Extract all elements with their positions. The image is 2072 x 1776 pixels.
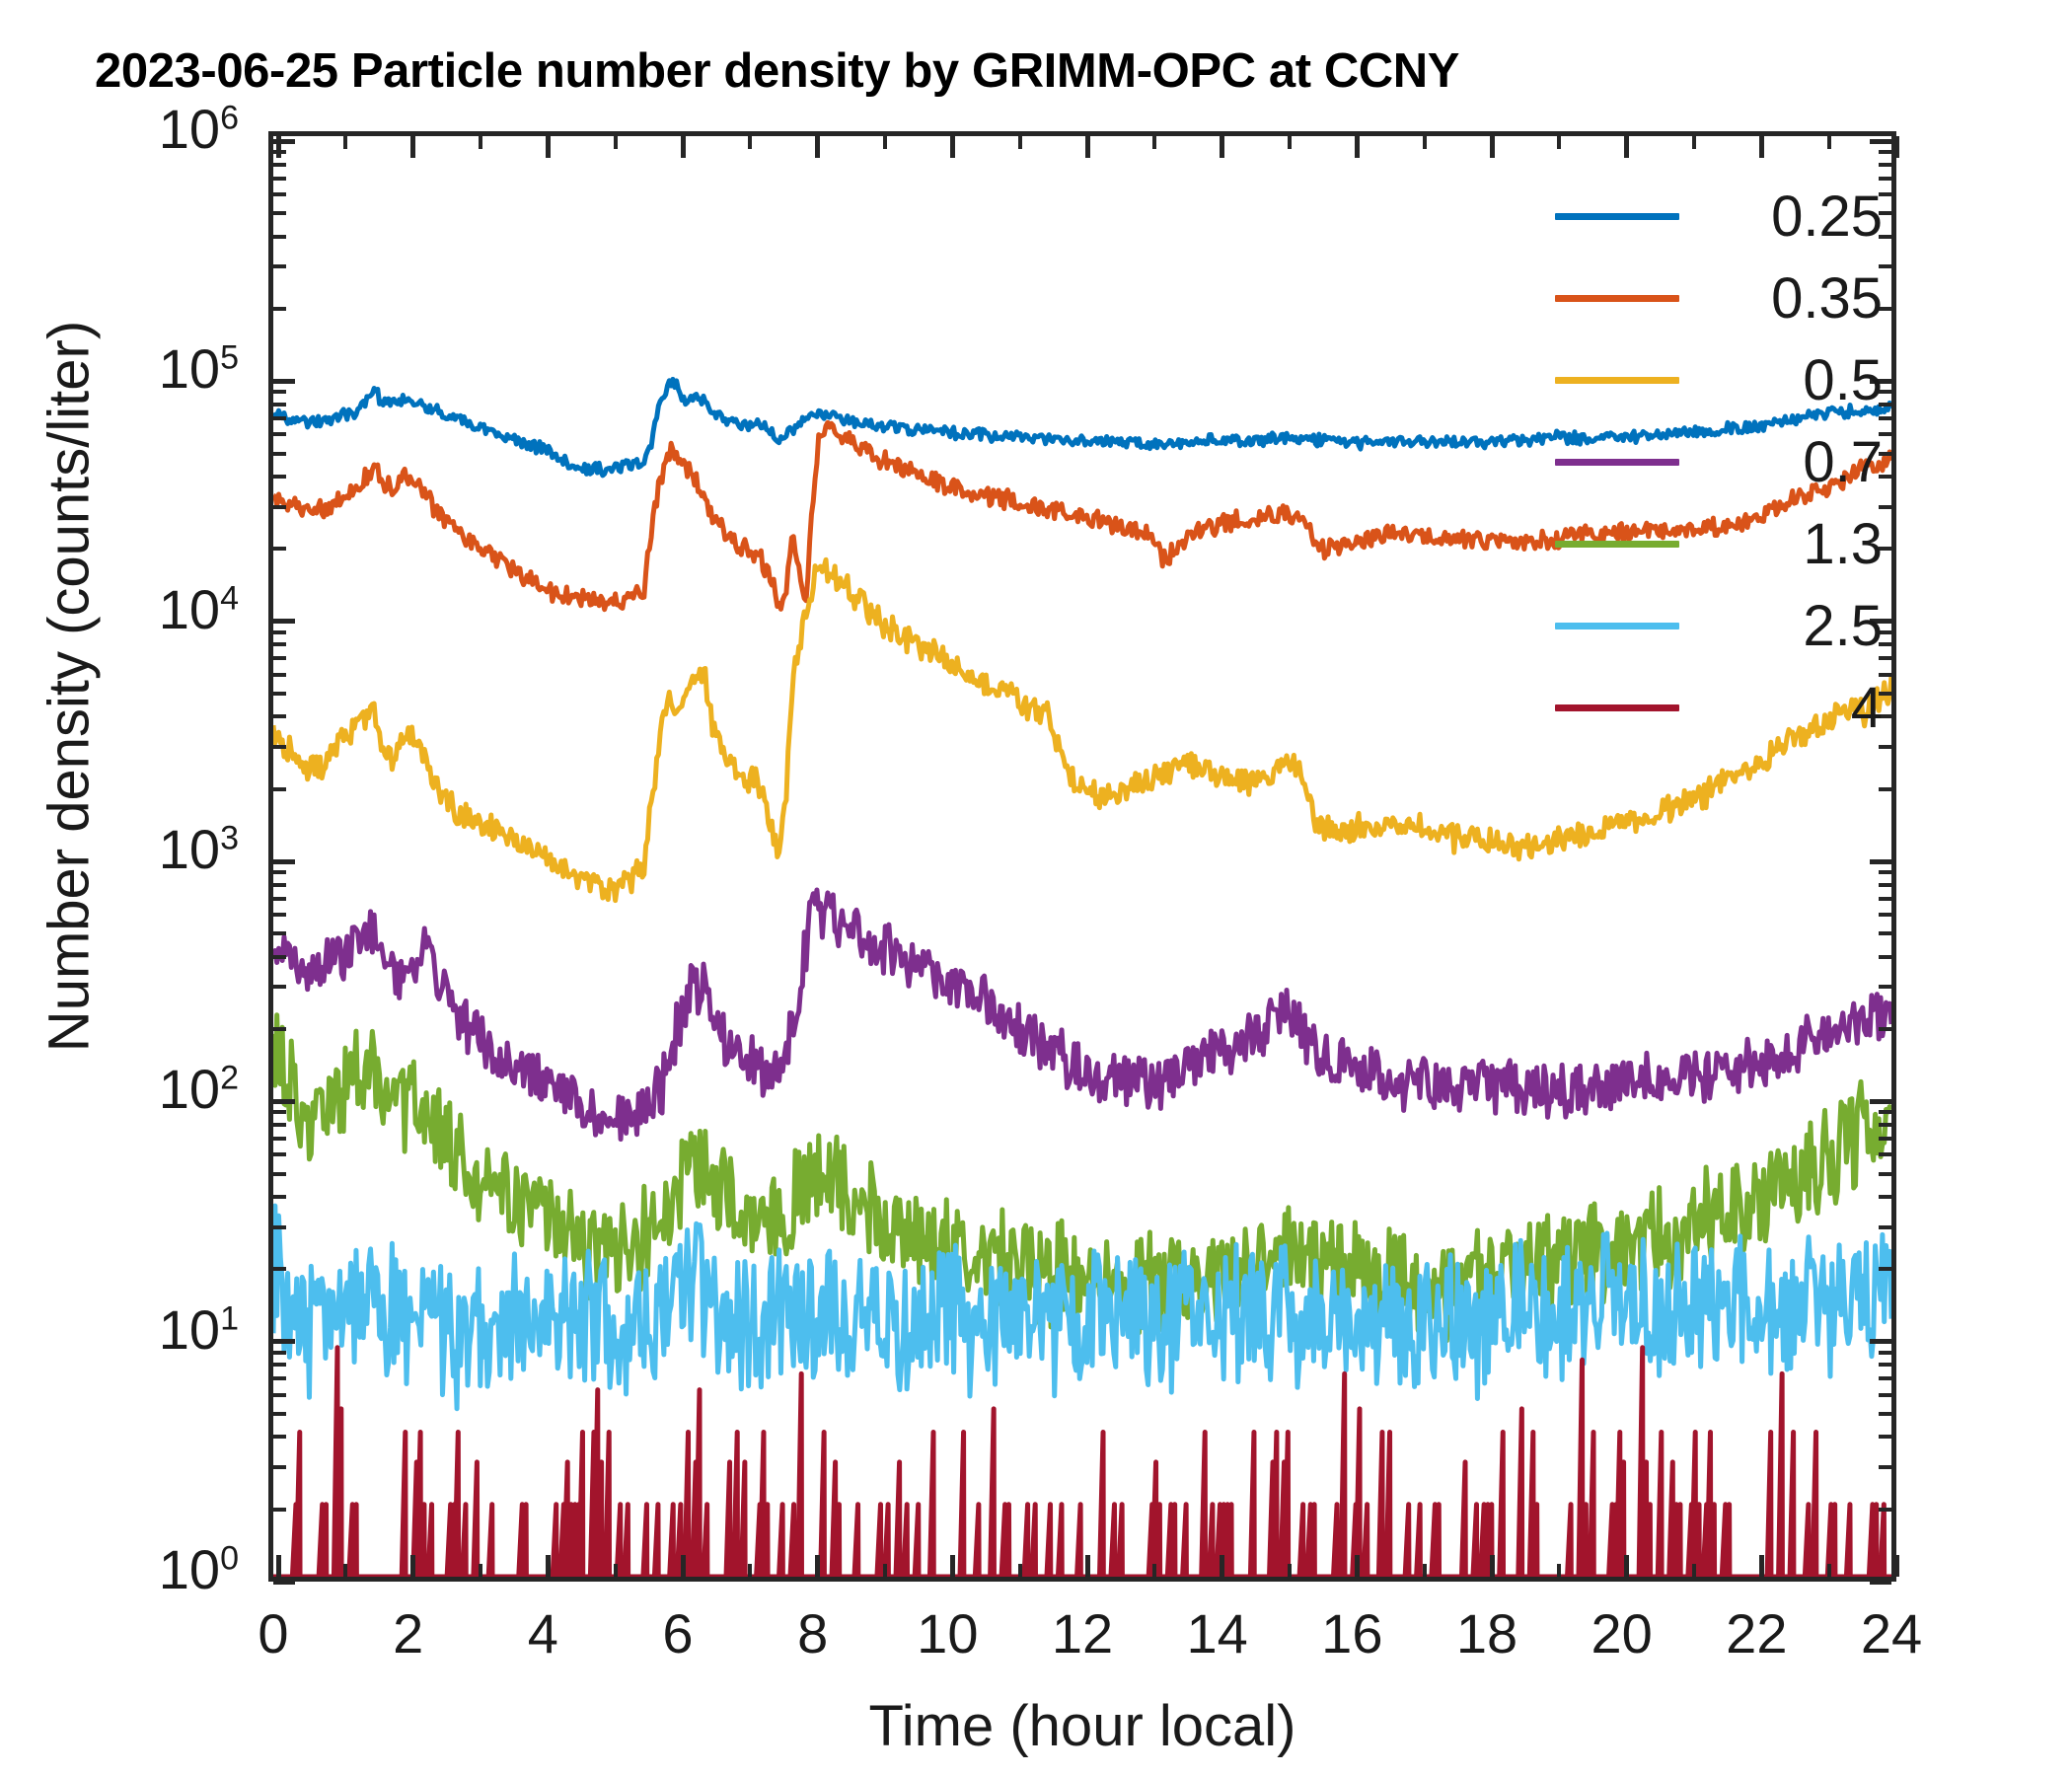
y-tick-minor	[273, 264, 286, 268]
y-tick-minor	[273, 955, 286, 959]
y-tick-label-1e4: 104	[159, 577, 239, 641]
legend-label: 2.5	[1697, 598, 1890, 655]
legend-color-swatch	[1555, 541, 1679, 548]
y-tick-label-1e2: 102	[159, 1057, 239, 1121]
x-tick-major-8	[815, 1555, 820, 1577]
x-tick-minor	[748, 1564, 752, 1577]
legend-item-1-3[interactable]: 1.3	[1555, 503, 1890, 585]
legend-item-0-35[interactable]: 0.35	[1555, 258, 1890, 339]
x-tick-label-10: 10	[888, 1601, 1006, 1665]
y-tick-minor-right	[1879, 1435, 1891, 1439]
x-tick-minor-top	[1827, 136, 1831, 149]
y-tick-major-1e2	[273, 1099, 295, 1104]
figure-root: 2023-06-25 Particle number density by GR…	[0, 0, 2072, 1776]
y-tick-major-1e3	[273, 859, 295, 864]
legend-item-0-25[interactable]: 0.25	[1555, 176, 1890, 258]
x-tick-minor-top	[883, 136, 887, 149]
y-tick-minor-right	[1879, 931, 1891, 935]
y-tick-major-right-1e1	[1870, 1339, 1891, 1344]
x-tick-label-4: 4	[483, 1601, 602, 1665]
y-tick-minor	[273, 931, 286, 935]
x-tick-label-24: 24	[1832, 1601, 1951, 1665]
y-tick-minor	[273, 1376, 286, 1380]
y-tick-minor-right	[1879, 1123, 1891, 1127]
y-tick-minor-right	[1879, 1351, 1891, 1355]
x-tick-label-12: 12	[1023, 1601, 1142, 1665]
y-tick-minor-right	[1879, 1412, 1891, 1416]
x-axis-title: Time (hour local)	[268, 1693, 1896, 1759]
y-tick-minor	[273, 1465, 286, 1469]
y-tick-minor-right	[1879, 955, 1891, 959]
x-tick-major-top-16	[1355, 136, 1360, 158]
x-tick-minor	[1692, 1564, 1696, 1577]
series-line-4	[273, 1348, 1891, 1577]
x-tick-label-2: 2	[349, 1601, 468, 1665]
y-tick-minor	[273, 1123, 286, 1127]
y-tick-minor	[273, 432, 286, 436]
y-tick-major-right-1e2	[1870, 1099, 1891, 1104]
y-tick-minor-right	[1879, 1152, 1891, 1156]
x-tick-label-14: 14	[1158, 1601, 1277, 1665]
y-tick-minor	[273, 177, 286, 181]
y-tick-minor	[273, 211, 286, 215]
y-tick-minor	[273, 235, 286, 239]
x-tick-minor	[343, 1564, 347, 1577]
legend-label: 4	[1697, 680, 1890, 737]
y-tick-major-right-1e6	[1870, 139, 1891, 144]
x-tick-major-top-10	[950, 136, 955, 158]
y-tick-minor	[273, 403, 286, 407]
y-tick-minor	[273, 897, 286, 901]
y-tick-minor	[273, 1027, 286, 1031]
y-tick-minor	[273, 416, 286, 420]
y-tick-minor	[273, 656, 286, 660]
y-tick-minor	[273, 673, 286, 677]
x-tick-label-20: 20	[1563, 1601, 1681, 1665]
legend-color-swatch	[1555, 459, 1679, 466]
y-tick-major-1e4	[273, 619, 295, 624]
x-tick-minor-top	[1557, 136, 1561, 149]
y-tick-major-right-1e0	[1870, 1580, 1891, 1585]
x-tick-major-14	[1220, 1555, 1224, 1577]
y-tick-minor	[273, 192, 286, 196]
y-tick-major-1e1	[273, 1339, 295, 1344]
x-tick-minor	[1018, 1564, 1022, 1577]
legend-label: 0.25	[1697, 188, 1890, 246]
x-tick-minor-top	[1692, 136, 1696, 149]
x-tick-minor	[1152, 1564, 1156, 1577]
x-tick-minor	[1423, 1564, 1427, 1577]
y-tick-minor-right	[1879, 1027, 1891, 1031]
x-tick-minor	[479, 1564, 482, 1577]
x-tick-major-top-20	[1624, 136, 1629, 158]
x-tick-major-0	[276, 1555, 281, 1577]
chart-title: 2023-06-25 Particle number density by GR…	[95, 43, 2029, 99]
x-tick-major-top-4	[546, 136, 551, 158]
y-tick-minor	[273, 505, 286, 509]
legend-label: 0.5	[1697, 352, 1890, 409]
y-tick-minor-right	[1879, 913, 1891, 917]
x-tick-label-6: 6	[619, 1601, 737, 1665]
y-tick-minor	[273, 452, 286, 456]
y-tick-label-1e1: 101	[159, 1297, 239, 1362]
y-tick-label-1e3: 103	[159, 817, 239, 881]
series-line-0-7	[273, 890, 1891, 1140]
y-tick-minor-right	[1879, 1508, 1891, 1512]
x-tick-major-4	[546, 1555, 551, 1577]
y-tick-minor-right	[1879, 985, 1891, 989]
x-tick-major-top-24	[1894, 136, 1899, 158]
y-tick-minor	[273, 307, 286, 311]
legend-label: 0.7	[1697, 434, 1890, 491]
y-tick-minor	[273, 1267, 286, 1271]
x-tick-minor-top	[479, 136, 482, 149]
legend-color-swatch	[1555, 623, 1679, 629]
x-tick-major-top-0	[276, 136, 281, 158]
y-tick-minor	[273, 1195, 286, 1199]
y-tick-minor	[273, 1225, 286, 1229]
y-tick-minor	[273, 1351, 286, 1355]
x-tick-minor	[883, 1564, 887, 1577]
y-tick-minor	[273, 883, 286, 887]
y-tick-minor-right	[1879, 1267, 1891, 1271]
x-tick-major-10	[950, 1555, 955, 1577]
y-tick-minor	[273, 1393, 286, 1397]
y-tick-minor	[273, 870, 286, 874]
y-tick-minor	[273, 985, 286, 989]
legend-label: 0.35	[1697, 270, 1890, 328]
x-tick-major-24	[1894, 1555, 1899, 1577]
y-tick-minor	[273, 714, 286, 718]
legend-color-swatch	[1555, 704, 1679, 711]
x-tick-label-0: 0	[214, 1601, 333, 1665]
y-tick-minor	[273, 913, 286, 917]
x-tick-major-12	[1085, 1555, 1090, 1577]
y-tick-major-1e0	[273, 1580, 295, 1585]
y-tick-minor-right	[1879, 1110, 1891, 1114]
x-tick-minor-top	[1018, 136, 1022, 149]
x-tick-label-8: 8	[754, 1601, 872, 1665]
y-tick-minor-right	[1879, 1363, 1891, 1367]
x-tick-minor-top	[1288, 136, 1292, 149]
x-tick-major-2	[410, 1555, 415, 1577]
y-tick-major-right-1e3	[1870, 859, 1891, 864]
y-tick-minor-right	[1879, 883, 1891, 887]
y-tick-label-1e5: 105	[159, 336, 239, 401]
y-tick-minor	[273, 1412, 286, 1416]
y-tick-minor	[273, 547, 286, 551]
y-tick-minor	[273, 1137, 286, 1141]
x-tick-major-16	[1355, 1555, 1360, 1577]
y-tick-minor	[273, 1435, 286, 1439]
series-line-2-5	[273, 1206, 1891, 1409]
y-tick-minor-right	[1879, 787, 1891, 791]
y-tick-minor-right	[1879, 1376, 1891, 1380]
y-tick-minor-right	[1879, 1137, 1891, 1141]
y-tick-minor	[273, 1172, 286, 1176]
x-tick-major-18	[1490, 1555, 1495, 1577]
y-tick-minor	[273, 692, 286, 696]
y-tick-minor	[273, 1508, 286, 1512]
y-tick-major-1e5	[273, 379, 295, 384]
x-tick-minor	[1827, 1564, 1831, 1577]
x-tick-minor-top	[343, 136, 347, 149]
y-tick-minor	[273, 1110, 286, 1114]
legend-item-0-5[interactable]: 0.5	[1555, 339, 1890, 421]
x-tick-minor-top	[614, 136, 618, 149]
y-tick-minor-right	[1879, 163, 1891, 167]
y-tick-label-1e6: 106	[159, 97, 239, 161]
y-tick-minor	[273, 1152, 286, 1156]
y-tick-label-1e0: 100	[159, 1537, 239, 1601]
y-tick-minor-right	[1879, 1172, 1891, 1176]
x-tick-major-top-2	[410, 136, 415, 158]
x-tick-label-22: 22	[1697, 1601, 1815, 1665]
x-tick-major-6	[681, 1555, 686, 1577]
legend-color-swatch	[1555, 295, 1679, 302]
x-tick-minor-top	[1152, 136, 1156, 149]
x-tick-major-top-8	[815, 136, 820, 158]
x-tick-minor	[614, 1564, 618, 1577]
y-tick-minor	[273, 390, 286, 394]
legend-item-0-7[interactable]: 0.7	[1555, 421, 1890, 503]
y-tick-minor	[273, 745, 286, 749]
y-axis-title: Number density (counts/liter)	[37, 193, 103, 1180]
y-tick-minor	[273, 642, 286, 646]
x-tick-major-top-14	[1220, 136, 1224, 158]
legend-item-4[interactable]: 4	[1555, 667, 1890, 749]
y-tick-minor-right	[1879, 870, 1891, 874]
y-tick-minor-right	[1879, 1225, 1891, 1229]
x-tick-minor-top	[748, 136, 752, 149]
chart-legend: 0.250.350.50.71.32.54	[1555, 176, 1890, 749]
y-tick-minor	[273, 1363, 286, 1367]
x-tick-label-16: 16	[1293, 1601, 1411, 1665]
legend-color-swatch	[1555, 213, 1679, 220]
y-tick-minor-right	[1879, 897, 1891, 901]
x-tick-major-top-18	[1490, 136, 1495, 158]
y-tick-minor	[273, 163, 286, 167]
y-tick-minor-right	[1879, 1393, 1891, 1397]
x-tick-major-top-12	[1085, 136, 1090, 158]
y-tick-minor-right	[1879, 1465, 1891, 1469]
x-tick-minor	[1557, 1564, 1561, 1577]
y-tick-minor	[273, 630, 286, 634]
y-tick-minor-right	[1879, 1195, 1891, 1199]
y-tick-minor	[273, 787, 286, 791]
x-tick-major-top-22	[1759, 136, 1764, 158]
x-tick-label-18: 18	[1428, 1601, 1546, 1665]
y-tick-minor-right	[1879, 150, 1891, 154]
x-tick-major-20	[1624, 1555, 1629, 1577]
legend-color-swatch	[1555, 377, 1679, 384]
legend-label: 1.3	[1697, 516, 1890, 573]
x-tick-minor-top	[1423, 136, 1427, 149]
x-tick-major-22	[1759, 1555, 1764, 1577]
legend-item-2-5[interactable]: 2.5	[1555, 585, 1890, 667]
x-tick-major-top-6	[681, 136, 686, 158]
x-tick-minor	[1288, 1564, 1292, 1577]
y-tick-minor	[273, 475, 286, 479]
